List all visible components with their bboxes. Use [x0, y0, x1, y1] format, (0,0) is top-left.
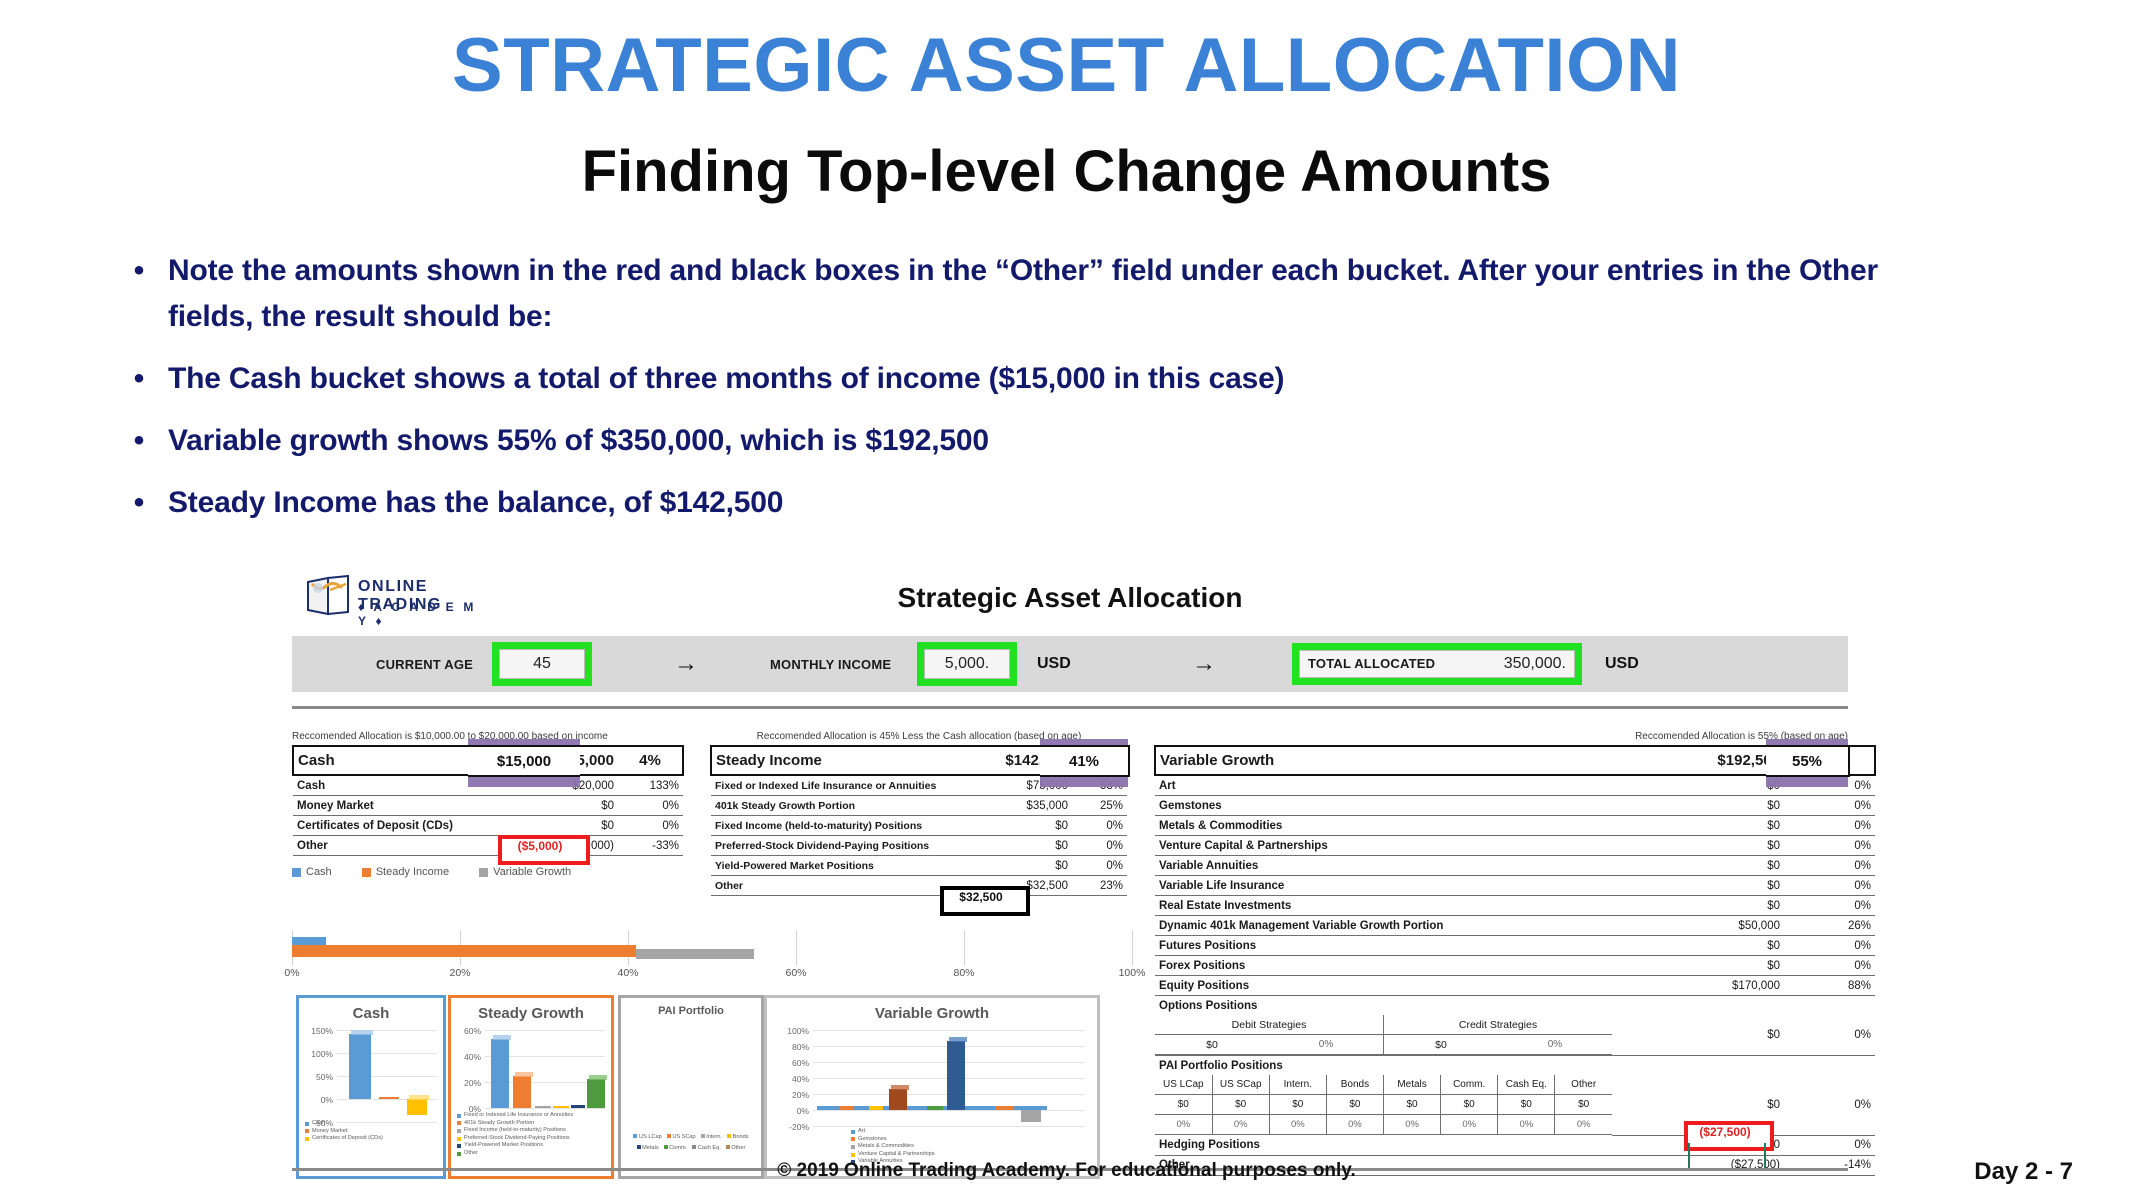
- legend-item-steady: Steady Income: [362, 866, 449, 878]
- table-row: Other ($5,000) -33%: [293, 836, 683, 856]
- row-amount[interactable]: $35,000: [946, 796, 1072, 816]
- sheet-header: ONLINE TRADING ♦ A C A D E M Y ♦ Strateg…: [292, 570, 1848, 632]
- row-pct: 23%: [1072, 876, 1127, 896]
- bar-cds: [407, 1099, 427, 1115]
- row-pct: 53%: [1072, 775, 1127, 796]
- list-item: • The Cash bucket shows a total of three…: [110, 356, 2060, 402]
- bar-yield-powered: [571, 1105, 585, 1108]
- pai-positions-row: PAI Portfolio Positions: [1155, 1056, 1875, 1076]
- credit-amount[interactable]: $0: [1383, 1035, 1497, 1055]
- pai-col-header: Bonds: [1326, 1075, 1383, 1095]
- slide-root: STRATEGIC ASSET ALLOCATION Finding Top-l…: [0, 0, 2133, 1200]
- row-pct: 0%: [1784, 796, 1875, 816]
- legend-label: Yield-Powered Market Positions: [464, 1142, 543, 1150]
- steady-other-highlighted-value: $32,500: [940, 886, 1022, 908]
- pai-total-pct: 0%: [1784, 1075, 1875, 1135]
- row-pct: -33%: [618, 836, 683, 856]
- variable-other-highlighted-value: ($27,500): [1684, 1121, 1766, 1143]
- row-pct: 0%: [1784, 836, 1875, 856]
- pai-col-amount[interactable]: $0: [1441, 1095, 1498, 1115]
- pai-col-amount[interactable]: $0: [1384, 1095, 1441, 1115]
- current-age-input[interactable]: 45: [499, 649, 585, 679]
- table-row: Variable Life Insurance$00%: [1155, 876, 1875, 896]
- axis-tick: 100%: [1119, 967, 1146, 979]
- row-pct: 26%: [1784, 916, 1875, 936]
- options-total-pct: 0%: [1784, 1015, 1875, 1056]
- debit-amount[interactable]: $0: [1155, 1035, 1269, 1055]
- pai-header-row: US LCapUS SCapIntern.BondsMetalsComm.Cas…: [1155, 1075, 1612, 1095]
- pai-col-amount[interactable]: $0: [1269, 1095, 1326, 1115]
- row-amount[interactable]: $0: [946, 856, 1072, 876]
- steady-pct-highlighted-value: 41%: [1040, 745, 1130, 777]
- table-row: Futures Positions$00%: [1155, 936, 1875, 956]
- debit-strategies-label: Debit Strategies: [1155, 1015, 1384, 1035]
- legend-label: Fixed or Indexed Life Insurance or Annui…: [464, 1112, 573, 1120]
- table-row: Fixed Income (held-to-maturity) Position…: [711, 816, 1127, 836]
- legend-label: 401k Steady Growth Portion: [464, 1120, 534, 1128]
- options-strategy-headers: Debit Strategies Credit Strategies: [1155, 1015, 1612, 1035]
- bar-money-market: [379, 1097, 399, 1099]
- copyright-text: © 2019 Online Trading Academy. For educa…: [0, 1160, 2133, 1182]
- legend-label: Cash: [306, 866, 332, 878]
- bullet-text: Note the amounts shown in the red and bl…: [168, 248, 1968, 340]
- row-pct: 133%: [618, 775, 683, 796]
- steady-growth-bar-chart: Steady Growth 60% 40% 20% 0%: [448, 995, 614, 1179]
- pai-col-amount[interactable]: $0: [1212, 1095, 1269, 1115]
- row-amount[interactable]: $75,000: [946, 775, 1072, 796]
- bar-segment-variable: [636, 949, 754, 959]
- row-label: Fixed or Indexed Life Insurance or Annui…: [711, 775, 946, 796]
- table-row: Dynamic 401k Management Variable Growth …: [1155, 916, 1875, 936]
- current-age-label: CURRENT AGE: [376, 657, 473, 672]
- row-label: Venture Capital & Partnerships: [1155, 836, 1612, 856]
- cash-header-pct: 4%: [618, 746, 683, 775]
- legend-label: Other: [464, 1150, 478, 1158]
- input-bar: CURRENT AGE 45 → MONTHLY INCOME 5,000. U…: [292, 636, 1848, 692]
- row-label: Yield-Powered Market Positions: [711, 856, 946, 876]
- table-row: Yield-Powered Market Positions$00%: [711, 856, 1127, 876]
- list-item: • Steady Income has the balance, of $142…: [110, 480, 2060, 526]
- legend-label: Metals: [642, 1145, 658, 1151]
- pai-amount-row: $0$0$0$0$0$0$0$0: [1155, 1095, 1612, 1115]
- bullet-list: • Note the amounts shown in the red and …: [110, 248, 2060, 542]
- row-amount[interactable]: $0: [1612, 936, 1784, 956]
- table-row: Fixed or Indexed Life Insurance or Annui…: [711, 775, 1127, 796]
- row-amount[interactable]: $50,000: [1612, 916, 1784, 936]
- bullet-marker: •: [110, 248, 168, 294]
- pai-col-header: US LCap: [1155, 1075, 1212, 1095]
- row-amount[interactable]: $0: [1612, 775, 1784, 796]
- axis-tick: 0%: [303, 1095, 333, 1105]
- row-pct: 0%: [1784, 816, 1875, 836]
- bar-other-negative: [1021, 1110, 1041, 1122]
- legend-label: Variable Growth: [493, 866, 571, 878]
- total-allocated-label: TOTAL ALLOCATED: [1308, 650, 1435, 678]
- axis-tick: 0%: [284, 967, 299, 979]
- page-subtitle: Finding Top-level Change Amounts: [0, 138, 2133, 205]
- row-label: Cash: [293, 775, 498, 796]
- legend-label: Bonds: [733, 1134, 749, 1140]
- pai-col-header: Cash Eq.: [1498, 1075, 1555, 1095]
- pai-col-pct: 0%: [1212, 1115, 1269, 1135]
- bar-dynamic-401k: [889, 1089, 907, 1110]
- options-strategy-header-row: Debit Strategies Credit Strategies $0 0%: [1155, 1015, 1875, 1035]
- row-label: Dynamic 401k Management Variable Growth …: [1155, 916, 1612, 936]
- bullet-text: Variable growth shows 55% of $350,000, w…: [168, 418, 989, 464]
- table-row: 401k Steady Growth Portion$35,00025%: [711, 796, 1127, 816]
- table-row: Forex Positions$00%: [1155, 956, 1875, 976]
- axis-tick: 80%: [777, 1042, 809, 1052]
- allocation-stacked-bar-chart: 0% 20% 40% 60% 80% 100%: [292, 931, 1132, 989]
- cash-recommendation-note: Reccomended Allocation is $10,000.00 to …: [292, 731, 684, 745]
- pai-col-amount[interactable]: $0: [1155, 1095, 1212, 1115]
- row-label: Other: [293, 836, 498, 856]
- row-pct: 0%: [1784, 1135, 1875, 1155]
- bar-fixed-indexed: [491, 1039, 509, 1108]
- axis-tick: 150%: [303, 1026, 333, 1036]
- table-row: Money Market $0 0%: [293, 796, 683, 816]
- legend-label: Fixed Income (held-to-maturity) Position…: [464, 1127, 566, 1135]
- bullet-marker: •: [110, 480, 168, 526]
- legend-label: Cash: [312, 1120, 325, 1128]
- variable-plot-area: 100% 80% 60% 40% 20% 0% -20%: [777, 1028, 1087, 1128]
- pai-col-pct: 0%: [1441, 1115, 1498, 1135]
- axis-tick: 80%: [953, 967, 974, 979]
- axis-tick: -20%: [777, 1122, 809, 1132]
- pai-col-pct: 0%: [1326, 1115, 1383, 1135]
- row-label: Equity Positions: [1155, 976, 1612, 996]
- bar-cash: [349, 1034, 371, 1099]
- table-row: Certificates of Deposit (CDs) $0 0%: [293, 816, 683, 836]
- legend-label: Art: [858, 1128, 865, 1136]
- chart-title: Cash: [299, 1005, 443, 1022]
- legend-label: Comm.: [669, 1145, 687, 1151]
- axis-tick: 60%: [455, 1026, 481, 1036]
- list-item: • Variable growth shows 55% of $350,000,…: [110, 418, 2060, 464]
- table-row: Cash $20,000 133%: [293, 775, 683, 796]
- row-pct: 0%: [1784, 856, 1875, 876]
- bar-401k: [513, 1076, 531, 1108]
- row-pct: 0%: [1784, 775, 1875, 796]
- row-label: Variable Annuities: [1155, 856, 1612, 876]
- table-row: Gemstones$00%: [1155, 796, 1875, 816]
- pai-portfolio-chart: PAI Portfolio US LCap US SCap Intern. Bo…: [618, 995, 764, 1179]
- day-number: Day 2 - 7: [1974, 1158, 2073, 1186]
- arrow-right-icon: →: [674, 650, 698, 678]
- legend-label: Gemstones: [858, 1136, 887, 1144]
- debit-pct: 0%: [1269, 1035, 1383, 1055]
- row-pct: 0%: [1072, 856, 1127, 876]
- row-label: Metals & Commodities: [1155, 816, 1612, 836]
- table-row: Metals & Commodities$00%: [1155, 816, 1875, 836]
- row-label: Forex Positions: [1155, 956, 1612, 976]
- row-amount[interactable]: $0: [946, 836, 1072, 856]
- pai-col-header: Metals: [1384, 1075, 1441, 1095]
- legend-label: US LCap: [639, 1134, 662, 1140]
- pai-col-amount[interactable]: $0: [1498, 1095, 1555, 1115]
- variable-recommendation-note: Reccomended Allocation is 55% (based on …: [1154, 731, 1848, 745]
- row-amount[interactable]: $20,000: [498, 775, 618, 796]
- credit-strategies-label: Credit Strategies: [1384, 1015, 1613, 1035]
- variable-header-name: Variable Growth: [1155, 746, 1612, 775]
- monthly-income-label: MONTHLY INCOME: [770, 657, 891, 672]
- bullet-text: The Cash bucket shows a total of three m…: [168, 356, 1284, 402]
- variable-growth-table: Variable Growth $192,500 55% Art$00% Gem…: [1154, 745, 1876, 1176]
- axis-tick: 60%: [777, 1058, 809, 1068]
- pai-chart-legend: US LCap US SCap Intern. Bonds Metals Com…: [625, 1134, 757, 1152]
- legend-label: Steady Income: [376, 866, 449, 878]
- chart-title: Steady Growth: [451, 1005, 611, 1022]
- pai-col-header: Intern.: [1269, 1075, 1326, 1095]
- table-row: Equity Positions$170,00088%: [1155, 976, 1875, 996]
- axis-tick: 40%: [617, 967, 638, 979]
- axis-tick: 20%: [455, 1078, 481, 1088]
- pai-grid-row: US LCapUS SCapIntern.BondsMetalsComm.Cas…: [1155, 1075, 1875, 1135]
- row-pct: 0%: [1072, 816, 1127, 836]
- current-age-highlight: 45: [492, 642, 592, 686]
- legend-label: Cash Eq.: [698, 1145, 721, 1151]
- table-row: Variable Annuities$00%: [1155, 856, 1875, 876]
- variable-growth-panel: Reccomended Allocation is 55% (based on …: [1154, 731, 1848, 1176]
- steady-recommendation-note: Reccomended Allocation is 45% Less the C…: [710, 731, 1128, 745]
- pai-label: PAI Portfolio Positions: [1155, 1056, 1612, 1076]
- row-label: 401k Steady Growth Portion: [711, 796, 946, 816]
- axis-tick: 0%: [777, 1106, 809, 1116]
- divider: [292, 706, 1848, 709]
- table-row: Preferred-Stock Dividend-Paying Position…: [711, 836, 1127, 856]
- legend-label: US SCap: [672, 1134, 695, 1140]
- bucket-panels: Reccomended Allocation is $10,000.00 to …: [292, 731, 1848, 1171]
- table-row: Art$00%: [1155, 775, 1875, 796]
- cash-panel: Reccomended Allocation is $10,000.00 to …: [292, 731, 684, 878]
- axis-tick: 100%: [303, 1049, 333, 1059]
- bar-other: [587, 1079, 605, 1108]
- row-pct: 0%: [1784, 876, 1875, 896]
- variable-header-amount: $192,500: [1612, 746, 1784, 775]
- total-allocated-input[interactable]: 350,000.: [1504, 650, 1566, 678]
- row-label: Certificates of Deposit (CDs): [293, 816, 498, 836]
- row-amount[interactable]: $0: [1612, 856, 1784, 876]
- pai-col-amount[interactable]: $0: [1326, 1095, 1383, 1115]
- legend-label: Metals & Commodities: [858, 1143, 914, 1151]
- axis-tick: 60%: [785, 967, 806, 979]
- chart-title: PAI Portfolio: [621, 1005, 761, 1017]
- row-pct: 0%: [1072, 836, 1127, 856]
- row-amount[interactable]: $0: [498, 816, 618, 836]
- page-title: STRATEGIC ASSET ALLOCATION: [0, 22, 2133, 109]
- row-pct: 0%: [618, 796, 683, 816]
- cash-amount-highlighted-value: $15,000: [468, 745, 580, 777]
- options-positions-row: Options Positions: [1155, 996, 1875, 1016]
- bullet-text: Steady Income has the balance, of $142,5…: [168, 480, 783, 526]
- row-amount[interactable]: $0: [1612, 876, 1784, 896]
- axis-tick: 50%: [303, 1072, 333, 1082]
- axis-tick: 100%: [777, 1026, 809, 1036]
- cash-plot-area: 150% 100% 50% 0% -50%: [303, 1028, 439, 1124]
- row-label: Money Market: [293, 796, 498, 816]
- row-amount[interactable]: $170,000: [1612, 976, 1784, 996]
- legend-label: Certificates of Deposit (CDs): [312, 1135, 383, 1143]
- axis-tick: 20%: [777, 1090, 809, 1100]
- table-row: Hedging Positions$00%: [1155, 1135, 1875, 1155]
- variable-growth-bar-chart: Variable Growth 100% 80% 60% 40% 20% 0% …: [764, 995, 1100, 1179]
- total-allocated-unit: USD: [1605, 655, 1639, 673]
- steady-chart-legend: Fixed or Indexed Life Insurance or Annui…: [457, 1112, 573, 1158]
- options-total-amount: $0: [1612, 1015, 1784, 1056]
- steady-header-name: Steady Income: [711, 746, 946, 775]
- table-row: Other$32,50023%: [711, 876, 1127, 896]
- list-item: • Note the amounts shown in the red and …: [110, 248, 2060, 340]
- row-amount[interactable]: $0: [1612, 836, 1784, 856]
- legend-label: Venture Capital & Partnerships: [858, 1151, 935, 1159]
- row-label: Art: [1155, 775, 1612, 796]
- legend-label: Other: [731, 1145, 745, 1151]
- pai-col-pct: 0%: [1498, 1115, 1555, 1135]
- bar-equity-positions: [947, 1041, 965, 1110]
- pai-col-pct: 0%: [1384, 1115, 1441, 1135]
- sheet-title: Strategic Asset Allocation: [292, 582, 1848, 614]
- pai-col-amount[interactable]: $0: [1555, 1095, 1612, 1115]
- row-label: Gemstones: [1155, 796, 1612, 816]
- axis-tick: 40%: [777, 1074, 809, 1084]
- row-pct: 0%: [618, 816, 683, 836]
- pai-pct-row: 0%0%0%0%0%0%0%0%: [1155, 1115, 1612, 1135]
- pai-col-pct: 0%: [1269, 1115, 1326, 1135]
- credit-pct: 0%: [1498, 1035, 1612, 1055]
- row-pct: 88%: [1784, 976, 1875, 996]
- row-pct: 0%: [1784, 956, 1875, 976]
- row-amount[interactable]: $0: [1612, 896, 1784, 916]
- options-strategy-values: $0 0% $0 0%: [1155, 1035, 1612, 1056]
- steady-income-panel: Reccomended Allocation is 45% Less the C…: [710, 731, 1128, 896]
- cash-bar-chart: Cash 150% 100% 50% 0% -50%: [296, 995, 446, 1179]
- axis-tick: 40%: [455, 1052, 481, 1062]
- row-label: Fixed Income (held-to-maturity) Position…: [711, 816, 946, 836]
- bullet-marker: •: [110, 418, 168, 464]
- arrow-right-icon-2: →: [1192, 650, 1216, 678]
- row-pct: 0%: [1784, 936, 1875, 956]
- steady-plot-area: 60% 40% 20% 0%: [455, 1028, 607, 1112]
- row-amount[interactable]: $0: [946, 816, 1072, 836]
- row-amount[interactable]: $0: [1612, 956, 1784, 976]
- bar-segment-steady: [292, 945, 636, 957]
- legend-label: Preferred-Stock Dividend-Paying Position…: [464, 1135, 570, 1143]
- row-label: Other: [711, 876, 946, 896]
- row-label: Hedging Positions: [1155, 1135, 1612, 1155]
- legend-label: Money Market: [312, 1128, 347, 1136]
- pai-col-pct: 0%: [1155, 1115, 1212, 1135]
- bar-preferred-stock: [553, 1106, 569, 1108]
- row-amount[interactable]: $0: [1612, 816, 1784, 836]
- row-label: Variable Life Insurance: [1155, 876, 1612, 896]
- variable-pct-highlighted-value: 55%: [1766, 745, 1850, 777]
- legend-label: Intern.: [706, 1134, 722, 1140]
- row-label: Preferred-Stock Dividend-Paying Position…: [711, 836, 946, 856]
- monthly-income-unit: USD: [1037, 655, 1071, 673]
- axis-tick: 20%: [449, 967, 470, 979]
- bar-axis: [292, 931, 1132, 965]
- pai-col-header: Comm.: [1441, 1075, 1498, 1095]
- row-amount[interactable]: $0: [1612, 796, 1784, 816]
- spreadsheet-screenshot: ONLINE TRADING ♦ A C A D E M Y ♦ Strateg…: [292, 570, 1848, 1170]
- options-label: Options Positions: [1155, 996, 1612, 1016]
- table-row: Venture Capital & Partnerships$00%: [1155, 836, 1875, 856]
- row-label: Real Estate Investments: [1155, 896, 1612, 916]
- pai-grid: US LCapUS SCapIntern.BondsMetalsComm.Cas…: [1155, 1075, 1612, 1135]
- pai-col-header: Other: [1555, 1075, 1612, 1095]
- bullet-marker: •: [110, 356, 168, 402]
- allocation-legend: Cash Steady Income Variable Growth: [292, 866, 684, 878]
- pai-col-header: US SCap: [1212, 1075, 1269, 1095]
- chart-title: Variable Growth: [767, 1005, 1097, 1022]
- pai-col-pct: 0%: [1555, 1115, 1612, 1135]
- legend-item-variable: Variable Growth: [479, 866, 571, 878]
- bar-fixed-income: [535, 1106, 551, 1108]
- row-amount[interactable]: $0: [498, 796, 618, 816]
- table-row: Real Estate Investments$00%: [1155, 896, 1875, 916]
- monthly-income-highlight: 5,000.: [917, 642, 1017, 686]
- row-label: Futures Positions: [1155, 936, 1612, 956]
- total-allocated-highlight: TOTAL ALLOCATED 350,000.: [1292, 643, 1582, 685]
- cash-chart-legend: Cash Money Market Certificates of Deposi…: [305, 1120, 383, 1143]
- mini-charts-row: Cash 150% 100% 50% 0% -50%: [292, 995, 1122, 1175]
- row-pct: 25%: [1072, 796, 1127, 816]
- row-pct: 0%: [1784, 896, 1875, 916]
- cash-other-highlighted-value: ($5,000): [498, 835, 582, 857]
- legend-item-cash: Cash: [292, 866, 332, 878]
- monthly-income-input[interactable]: 5,000.: [924, 649, 1010, 679]
